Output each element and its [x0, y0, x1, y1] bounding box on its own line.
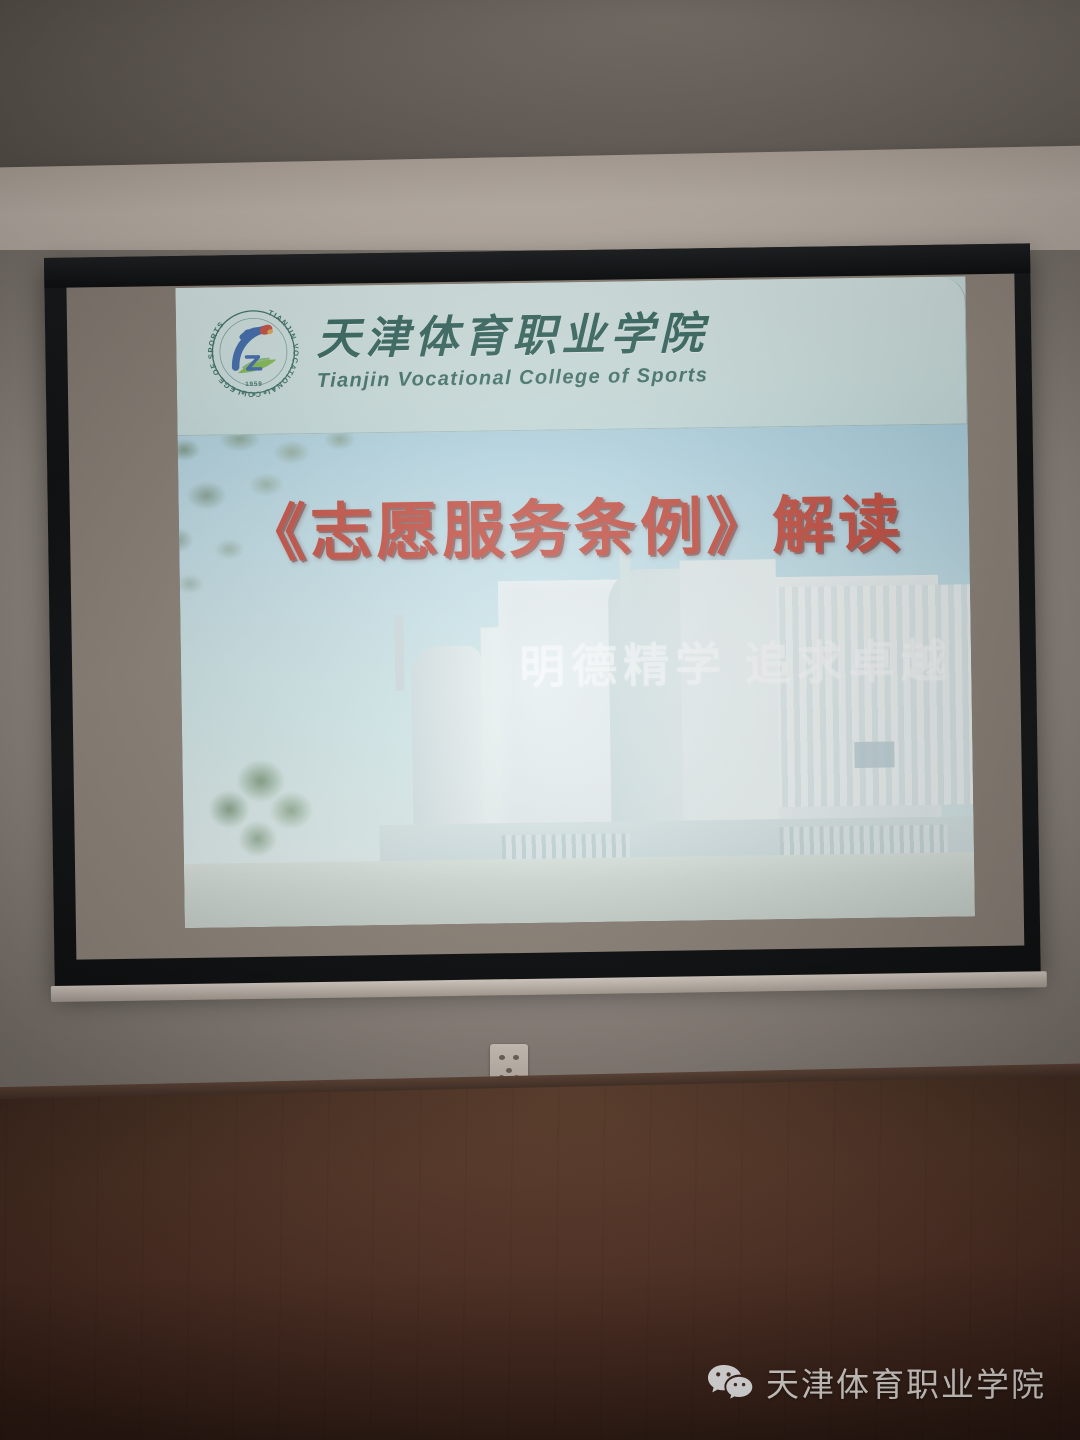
projection-screen: 《志愿服务条例》解读 明德精学 追求卓越 [44, 243, 1041, 990]
college-logo: TIANJIN VOCATIONAL COLLEGE OF SPORTS [202, 294, 709, 403]
slide-canvas: 《志愿服务条例》解读 明德精学 追求卓越 [175, 276, 974, 928]
college-seal-icon: TIANJIN VOCATIONAL COLLEGE OF SPORTS [202, 300, 306, 404]
building-window [854, 741, 894, 768]
building-mast-a [394, 615, 404, 691]
college-name-cn: 天津体育职业学院 [316, 312, 709, 362]
wechat-icon [707, 1363, 753, 1401]
tree-foliage-bottom-left-icon [198, 736, 330, 888]
svg-text:1959: 1959 [245, 381, 263, 388]
college-name-block: 天津体育职业学院 Tianjin Vocational College of S… [316, 306, 709, 391]
room-photo: 《志愿服务条例》解读 明德精学 追求卓越 [0, 0, 1080, 1440]
wechat-watermark-label: 天津体育职业学院 [766, 1358, 1046, 1406]
slide-title: 《志愿服务条例》解读 [178, 472, 969, 574]
college-name-en: Tianjin Vocational College of Sports [317, 365, 709, 391]
wechat-watermark: 天津体育职业学院 [707, 1358, 1046, 1406]
slide-header-band: TIANJIN VOCATIONAL COLLEGE OF SPORTS [175, 276, 967, 436]
projected-slide: 《志愿服务条例》解读 明德精学 追求卓越 [175, 276, 974, 928]
slide-background: 《志愿服务条例》解读 明德精学 追求卓越 [178, 424, 975, 928]
slide-motto: 明德精学 追求卓越 [519, 625, 950, 697]
